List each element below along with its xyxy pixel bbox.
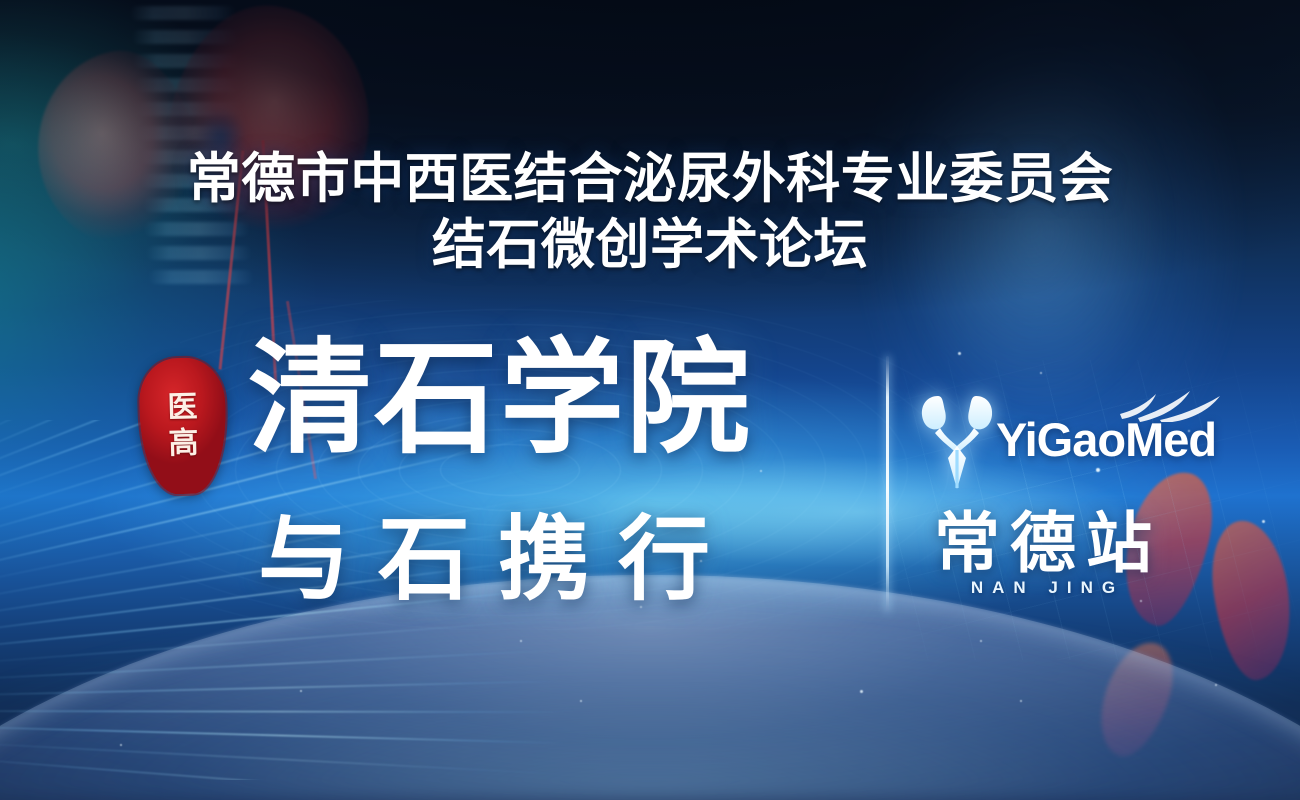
- vertical-divider: [886, 356, 889, 612]
- partner-logo-lockup: YiGaoMed: [916, 388, 1216, 492]
- seal-char-top: 医: [167, 392, 198, 425]
- academy-brand-name: 清石学院: [248, 336, 752, 462]
- seal-char-bottom: 高: [168, 428, 199, 461]
- headline-line-2: 结石微创学术论坛: [0, 214, 1300, 276]
- conference-poster: 常德市中西医结合泌尿外科专业委员会 结石微创学术论坛 医 高 清石学院 与石携行: [0, 0, 1300, 800]
- station-pinyin: NAN JING: [900, 578, 1186, 598]
- station-name: 常德站: [900, 508, 1186, 578]
- partner-wordmark-wrapper: YiGaoMed: [996, 416, 1216, 464]
- academy-seal-stamp: 医 高: [138, 357, 228, 495]
- poster-headline: 常德市中西医结合泌尿外科专业委员会 结石微创学术论坛: [0, 148, 1300, 276]
- poster-content: 常德市中西医结合泌尿外科专业委员会 结石微创学术论坛 医 高 清石学院 与石携行: [0, 0, 1300, 800]
- kidney-pen-icon: [916, 390, 998, 490]
- academy-slogan: 与石携行: [258, 512, 738, 608]
- headline-line-1: 常德市中西医结合泌尿外科专业委员会: [0, 148, 1300, 210]
- leaf-swoosh-icon: [1118, 388, 1222, 422]
